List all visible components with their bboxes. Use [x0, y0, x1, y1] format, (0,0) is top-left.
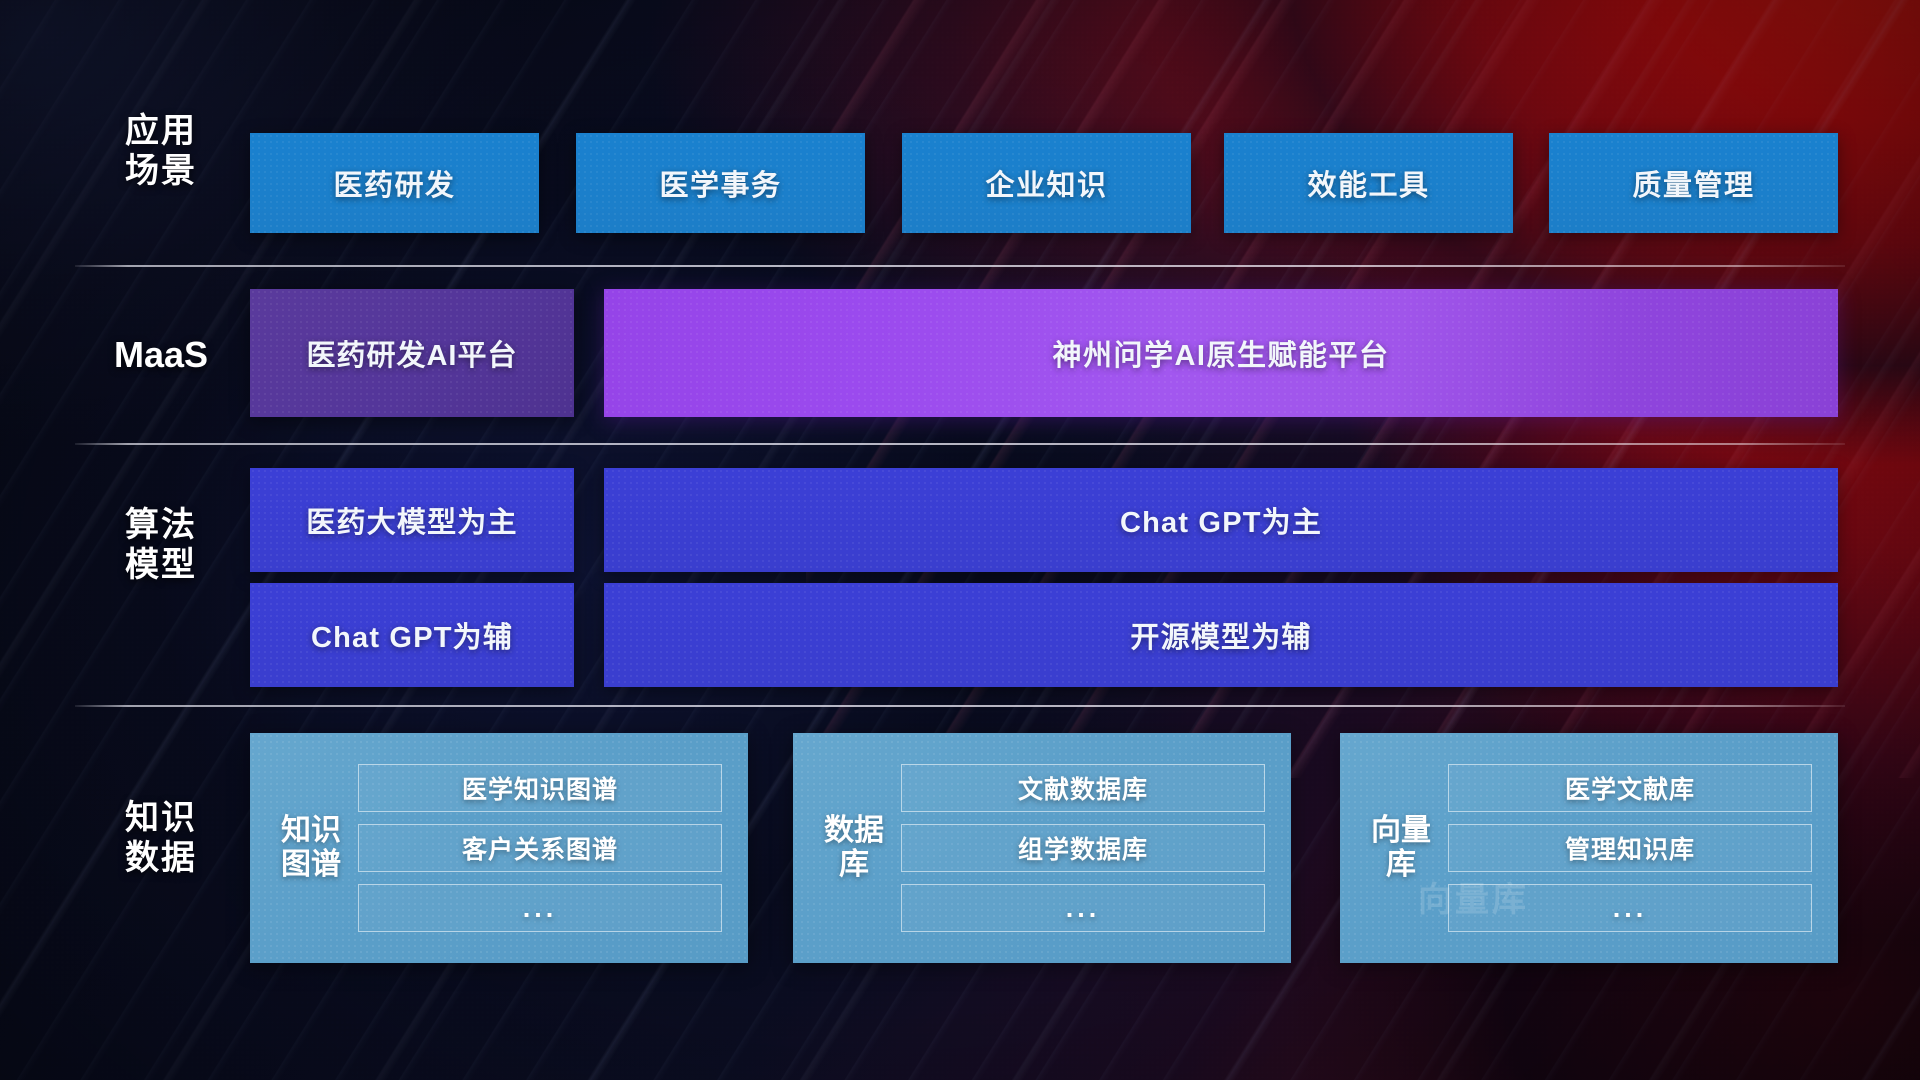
scene-card-medical-affairs-label: 医学事务 [659, 162, 781, 204]
algo-card-chatgpt-secondary[interactable]: Chat GPT为辅 [250, 583, 574, 687]
algo-card-chatgpt-primary[interactable]: Chat GPT为主 [604, 468, 1838, 572]
maas-card-drug-rd-ai-platform-label: 医药研发AI平台 [306, 332, 517, 374]
scene-card-quality-management[interactable]: 质量管理 [1549, 133, 1838, 233]
scene-card-enterprise-knowledge[interactable]: 企业知识 [902, 133, 1191, 233]
algo-card-pharma-large-model-primary[interactable]: 医药大模型为主 [250, 468, 574, 572]
scene-card-drug-rd-label: 医药研发 [333, 162, 455, 204]
row-label-maas: MaaS [86, 334, 236, 376]
row-label-algorithm-model: 算法 模型 [86, 505, 236, 585]
knowledge-panel-knowledge-graph-items: 医学知识图谱 客户关系图谱 ... [350, 764, 748, 932]
knowledge-item-medical-knowledge-graph-label: 医学知识图谱 [462, 770, 618, 806]
knowledge-item-more-vector-label: ... [1613, 893, 1648, 924]
scene-card-drug-rd[interactable]: 医药研发 [250, 133, 539, 233]
knowledge-panel-vector-store-items: 医学文献库 管理知识库 ... [1440, 764, 1838, 932]
knowledge-item-omics-database[interactable]: 组学数据库 [901, 824, 1265, 872]
knowledge-panel-vector-store-label: 向量库 [1362, 814, 1440, 881]
row-label-application-scenarios: 应用 场景 [86, 111, 236, 191]
knowledge-item-medical-literature-store[interactable]: 医学文献库 [1448, 764, 1812, 812]
knowledge-item-omics-database-label: 组学数据库 [1018, 830, 1148, 866]
algo-card-open-source-model-secondary[interactable]: 开源模型为辅 [604, 583, 1838, 687]
knowledge-item-more-database[interactable]: ... [901, 884, 1265, 932]
architecture-diagram: 应用 场景 医药研发 医学事务 企业知识 效能工具 质量管理 MaaS 医药研发… [0, 0, 1920, 1080]
divider-3 [75, 705, 1845, 707]
knowledge-item-medical-literature-store-label: 医学文献库 [1565, 770, 1695, 806]
knowledge-item-more-graph-label: ... [523, 893, 558, 924]
knowledge-panel-database-items: 文献数据库 组学数据库 ... [893, 764, 1291, 932]
divider-2 [75, 443, 1845, 445]
knowledge-item-more-vector[interactable]: ... [1448, 884, 1812, 932]
knowledge-panel-database[interactable]: 数据库 文献数据库 组学数据库 ... [793, 733, 1291, 963]
maas-card-shenzhou-wenxue-platform[interactable]: 神州问学AI原生赋能平台 [604, 289, 1838, 417]
scene-card-quality-management-label: 质量管理 [1632, 162, 1754, 204]
divider-1 [75, 265, 1845, 267]
knowledge-item-customer-relation-graph[interactable]: 客户关系图谱 [358, 824, 722, 872]
knowledge-item-management-knowledge-store-label: 管理知识库 [1565, 830, 1695, 866]
scene-card-efficiency-tools-label: 效能工具 [1307, 162, 1429, 204]
knowledge-item-medical-knowledge-graph[interactable]: 医学知识图谱 [358, 764, 722, 812]
knowledge-panel-vector-store[interactable]: 向量库 医学文献库 管理知识库 ... [1340, 733, 1838, 963]
algo-card-open-source-model-secondary-label: 开源模型为辅 [1130, 614, 1311, 656]
algo-card-chatgpt-secondary-label: Chat GPT为辅 [311, 614, 513, 656]
row-label-knowledge-data: 知识 数据 [86, 798, 236, 878]
knowledge-panel-database-label: 数据库 [815, 814, 893, 881]
scene-card-enterprise-knowledge-label: 企业知识 [985, 162, 1107, 204]
knowledge-panel-knowledge-graph[interactable]: 知识图谱 医学知识图谱 客户关系图谱 ... [250, 733, 748, 963]
knowledge-item-management-knowledge-store[interactable]: 管理知识库 [1448, 824, 1812, 872]
algo-card-chatgpt-primary-label: Chat GPT为主 [1120, 499, 1322, 541]
scene-card-efficiency-tools[interactable]: 效能工具 [1224, 133, 1513, 233]
maas-card-drug-rd-ai-platform[interactable]: 医药研发AI平台 [250, 289, 574, 417]
scene-card-medical-affairs[interactable]: 医学事务 [576, 133, 865, 233]
knowledge-item-more-database-label: ... [1066, 893, 1101, 924]
knowledge-item-customer-relation-graph-label: 客户关系图谱 [462, 830, 618, 866]
knowledge-item-literature-database[interactable]: 文献数据库 [901, 764, 1265, 812]
knowledge-item-literature-database-label: 文献数据库 [1018, 770, 1148, 806]
algo-card-pharma-large-model-primary-label: 医药大模型为主 [306, 499, 517, 541]
maas-card-shenzhou-wenxue-platform-label: 神州问学AI原生赋能平台 [1052, 332, 1389, 374]
knowledge-item-more-graph[interactable]: ... [358, 884, 722, 932]
knowledge-panel-knowledge-graph-label: 知识图谱 [272, 814, 350, 881]
